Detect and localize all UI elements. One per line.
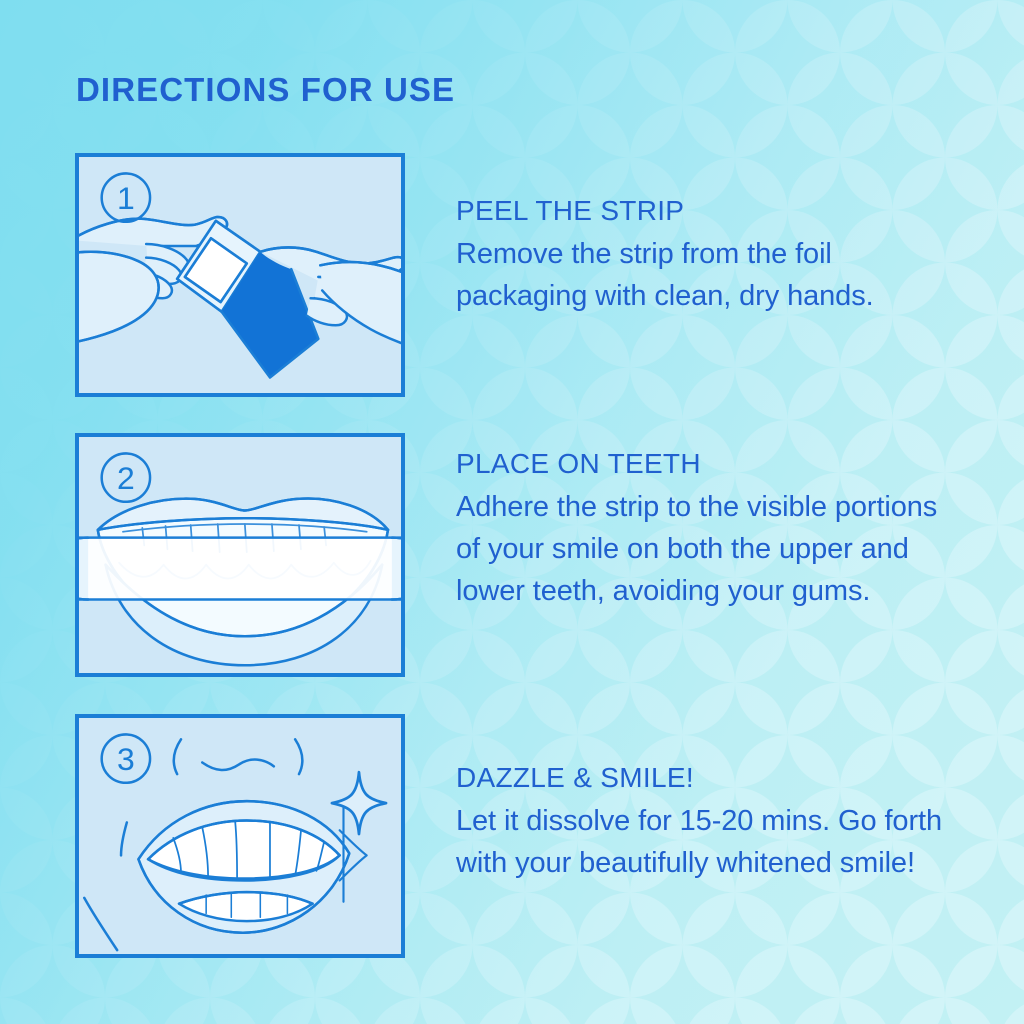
directions-for-use-card: DIRECTIONS FOR USE (0, 0, 1024, 1024)
step-2-illustration-panel: 2 (75, 433, 405, 677)
step-3-number-badge: 3 (102, 734, 150, 782)
svg-text:1: 1 (117, 180, 135, 216)
mouth-with-whitening-strip-icon: 2 (79, 437, 401, 673)
step-3-body: Let it dissolve for 15-20 mins. Go forth… (456, 800, 956, 884)
hands-peeling-foil-packet-icon: 1 (79, 157, 401, 393)
svg-text:2: 2 (117, 460, 135, 496)
step-3-copy: DAZZLE & SMILE! Let it dissolve for 15-2… (456, 762, 956, 884)
step-1-body: Remove the strip from the foil packaging… (456, 233, 956, 317)
step-1-illustration-panel: 1 (75, 153, 405, 397)
step-3-illustration-panel: 3 (75, 714, 405, 958)
step-1-heading: PEEL THE STRIP (456, 195, 956, 227)
step-3-heading: DAZZLE & SMILE! (456, 762, 956, 794)
smiling-mouth-with-sparkle-icon: 3 (79, 718, 401, 954)
step-2-copy: PLACE ON TEETH Adhere the strip to the v… (456, 448, 956, 612)
step-1-number-badge: 1 (102, 173, 150, 221)
page-title: DIRECTIONS FOR USE (76, 71, 455, 109)
svg-text:3: 3 (117, 741, 135, 777)
step-2-number-badge: 2 (102, 453, 150, 501)
step-2-heading: PLACE ON TEETH (456, 448, 956, 480)
step-2-body: Adhere the strip to the visible portions… (456, 486, 956, 612)
step-1-copy: PEEL THE STRIP Remove the strip from the… (456, 195, 956, 317)
